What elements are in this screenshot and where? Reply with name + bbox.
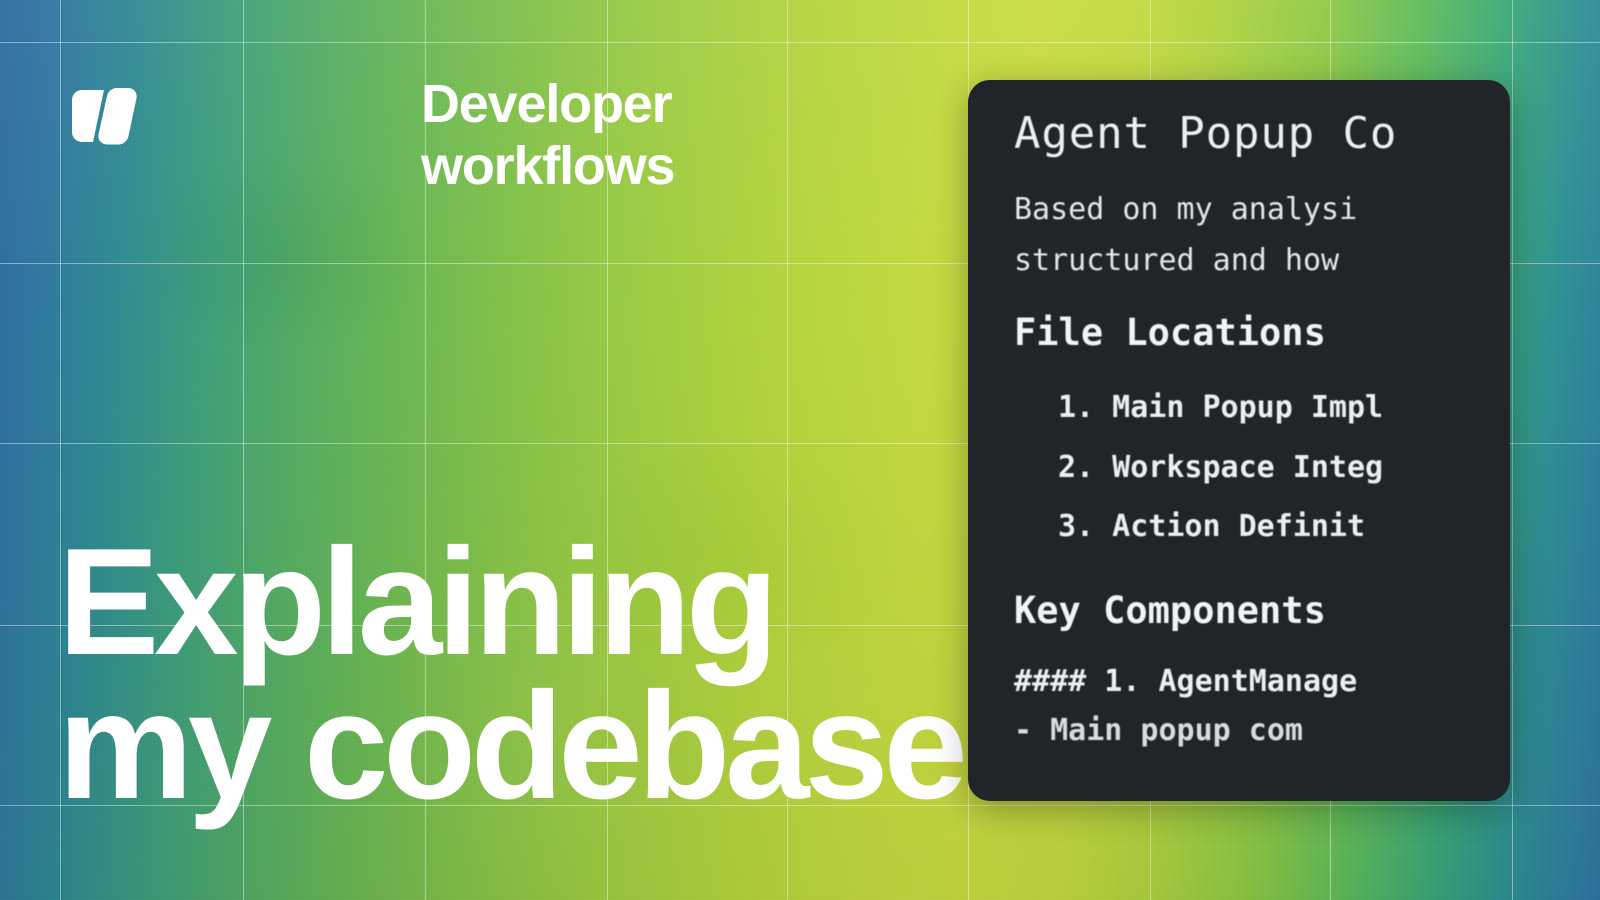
linear-logo-icon: [62, 84, 146, 148]
code-panel-component-sub: - Main popup com: [1014, 707, 1510, 756]
code-panel-component-heading: #### 1. AgentManage: [1014, 658, 1510, 707]
code-panel-section-key-components: Key Components: [1014, 586, 1510, 636]
code-panel-content: Agent Popup Co Based on my analysi struc…: [1014, 106, 1510, 756]
eyebrow-text: Developer workflows: [421, 74, 891, 197]
code-preview-panel[interactable]: Agent Popup Co Based on my analysi struc…: [968, 80, 1510, 801]
file-locations-list: 1. Main Popup Impl 2. Workspace Integ 3.…: [1014, 378, 1510, 556]
list-item: 3. Action Definit: [1058, 497, 1510, 556]
list-item: 1. Main Popup Impl: [1058, 378, 1510, 437]
code-panel-paragraph: Based on my analysi structured and how: [1014, 184, 1510, 286]
page-title: Explaining my codebase: [58, 530, 1018, 819]
slide-canvas: Developer workflows Explaining my codeba…: [0, 0, 1600, 900]
code-panel-title: Agent Popup Co: [1014, 106, 1510, 162]
code-panel-section-file-locations: File Locations: [1014, 308, 1510, 358]
list-item: 2. Workspace Integ: [1058, 438, 1510, 497]
